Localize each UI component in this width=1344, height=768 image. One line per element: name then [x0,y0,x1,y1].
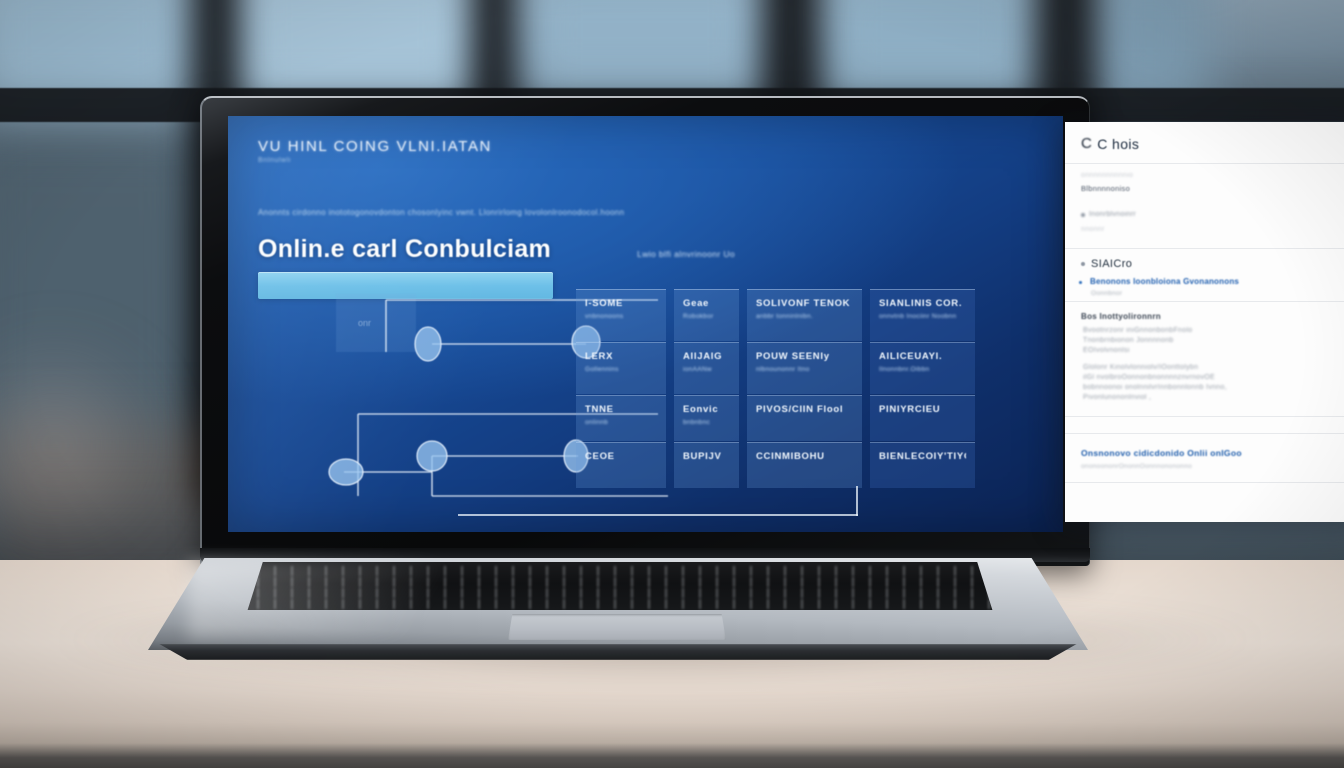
divider [1065,482,1344,483]
feature-card[interactable]: AlLICEUAYl. Ilnonnbnr.Oibbn [870,342,975,394]
card-column-3: SOLIVONF TENOK anbbr tonninlnibn. POUW S… [747,289,862,488]
panel-cta-subtext: ononoononrOnonnOonnnonononno [1065,463,1344,482]
feature-card[interactable]: BIENLECOIY'TIYOK [870,442,975,488]
card-column-4: SIANLINIS COR. onnvtnb Inociinr Noobnn A… [870,289,975,488]
card-title: SOLIVONF TENOK [756,298,853,309]
feature-card-grid: I-SOME vnbnonoons LERX Gollennins TNNE o… [576,289,986,488]
brand-title: VU HINL COING VLNI.IATAN [258,138,1033,155]
laptop-deck [148,548,1088,668]
list-item[interactable]: ilGl nvolbroOonnonbnonnnnznvrnovOE [1065,372,1344,382]
feature-card[interactable]: Geae Robokbor [674,289,739,341]
list-item[interactable]: EOIvolvnonlsi [1065,345,1344,355]
card-title: AIlJAlG [683,351,730,362]
feature-card[interactable]: BUPIJV [674,442,739,488]
diagram-rail-vertical [856,486,858,516]
panel-link-subtext: Oonnbnor [1065,288,1344,301]
diagram-node-3 [417,441,447,471]
keyboard-row [240,588,1000,598]
panel-faint-label: onnnnnnnnnnio [1081,172,1344,179]
feature-card[interactable]: AIlJAlG ionAANw [674,342,739,394]
laptop-base-lip [150,644,1086,660]
keyboard[interactable] [240,562,1000,610]
card-title: CEOE [585,451,657,462]
panel-meta-row: Inonrblvnoinrr [1081,211,1344,218]
feature-card[interactable]: TNNE onlinnb [576,395,666,441]
headline-note: Lwio blfi alnvrinoonr Uo [637,249,735,264]
diagram-node-1 [415,327,441,361]
card-subtitle: vnbnonoons [585,313,657,320]
divider [1065,416,1344,417]
card-title: BUPIJV [683,451,730,462]
panel-faint-small: nnonnr [1081,226,1344,233]
card-title: I-SOME [585,298,657,309]
trackpad[interactable] [508,614,726,640]
list-item[interactable]: Tnonbrnbionon Jonnnnonb [1065,335,1344,345]
feature-card[interactable]: LERX Gollennins [576,342,666,394]
feature-card[interactable]: Eonvic bnbnbnc [674,395,739,441]
card-subtitle: onlinnb [585,419,657,426]
card-title: POUW SEENIy [756,351,853,362]
feature-card[interactable]: SOLIVONF TENOK anbbr tonninlnibn. [747,289,862,341]
list-item[interactable]: Glolonr Kinolvlonniolv/IOonttolybn [1065,362,1344,372]
card-column-1: I-SOME vnbnonoons LERX Gollennins TNNE o… [576,289,666,488]
card-title: BIENLECOIY'TIYOK [879,451,966,462]
card-title: AlLICEUAYl. [879,351,966,362]
card-title: CCINMIBOHU [756,451,853,462]
bullet-icon [1079,281,1082,284]
diagram-node-5 [329,459,363,485]
window-pane-4 [820,0,1040,100]
card-title: LERX [585,351,657,362]
overlay-document-panel[interactable]: C C hois onnnnnnnnnnio Blbnnnnoniso Inon… [1065,122,1344,522]
diagram-node-label: onr [358,318,371,328]
card-subtitle: anbbr tonninlnibn. [756,313,853,320]
circle-marker-icon [1081,262,1085,266]
card-title: PINIYRCIEU [879,404,966,415]
feature-card[interactable]: SIANLINIS COR. onnvtnb Inociinr Noobnn [870,289,975,341]
card-subtitle: nlbnounonnr Itno [756,366,853,373]
card-title: Geae [683,298,730,309]
list-item[interactable]: Pivonlunononlnviol , [1065,392,1344,402]
keyboard-row [240,577,1000,587]
list-item[interactable]: bobnnoonoi onolnnilvrInnbonnlonnb Ivnno, [1065,382,1344,392]
card-title: TNNE [585,404,657,415]
keyboard-row [240,599,1000,609]
panel-dark-label: Blbnnnnoniso [1081,184,1344,193]
scene-root: VU HINL COING VLNI.IATAN Bnlnulwli Anonn… [0,0,1344,768]
list-item[interactable]: Bvootnrzonr iniGnnonbonbFnolo [1065,325,1344,335]
panel-logo-icon: C [1081,135,1092,152]
feature-card[interactable]: CCINMIBOHU [747,442,862,488]
panel-link-text: Benonons loonbloiona Gvonanonons [1090,277,1239,286]
panel-primary-link[interactable]: Benonons loonbloiona Gvonanonons [1065,275,1344,288]
bullet-dot-icon [1081,213,1085,217]
feature-card[interactable]: I-SOME vnbnonoons [576,289,666,341]
card-subtitle: Ilnonnbnr.Oibbn [879,366,966,373]
panel-meta-block: Inonrblvnoinrr nnonnr [1065,203,1344,248]
panel-title: C hois [1097,136,1139,152]
panel-cta-link[interactable]: Onsnonovo cidicdonido Onlii onIGoo [1065,434,1344,463]
page-lede-text: Anonnts cirdonno inototogonovdonton chos… [258,208,1033,217]
panel-intro-block: onnnnnnnnnnio Blbnnnnoniso [1065,164,1344,203]
panel-list-heading: Bos Inottyolironnrn [1065,302,1344,325]
keyboard-row [240,566,1000,576]
brand-subtitle: Bnlnulwli [258,157,1033,164]
card-title: PIVOS/CIIN Flool [756,404,853,415]
card-subtitle: Gollennins [585,366,657,373]
card-subtitle: ionAANw [683,366,730,373]
card-title: Eonvic [683,404,730,415]
laptop: VU HINL COING VLNI.IATAN Bnlnulwli Anonn… [148,96,1088,666]
panel-section-label: SIAICro [1091,258,1132,270]
window-pane-3 [520,0,770,100]
card-subtitle: onnvtnb Inociinr Noobnn [879,313,966,320]
card-subtitle: bnbnbnc [683,419,730,426]
site-brand[interactable]: VU HINL COING VLNI.IATAN Bnlnulwli [258,138,1033,164]
card-title: SIANLINIS COR. [879,298,966,309]
background-glow-secondary [0,330,170,560]
card-column-2: Geae Robokbor AIlJAlG ionAANw Eonvic bnb… [674,289,739,488]
feature-card[interactable]: PIVOS/CIIN Flool [747,395,862,441]
panel-section-title: SIAICro [1065,249,1344,275]
feature-card[interactable]: CEOE [576,442,666,488]
panel-header: C C hois [1065,122,1344,163]
card-subtitle: Robokbor [683,313,730,320]
feature-card[interactable]: PINIYRCIEU [870,395,975,441]
diagram-rail-horizontal [458,514,858,516]
page-title: Onlin.e carl Conbulciam [258,235,551,264]
feature-card[interactable]: POUW SEENIy nlbnounonnr Itno [747,342,862,394]
laptop-screen[interactable]: VU HINL COING VLNI.IATAN Bnlnulwli Anonn… [228,116,1063,532]
panel-meta-text: Inonrblvnoinrr [1089,211,1136,218]
headline-row: Onlin.e carl Conbulciam Lwio blfi alnvri… [258,235,1033,264]
